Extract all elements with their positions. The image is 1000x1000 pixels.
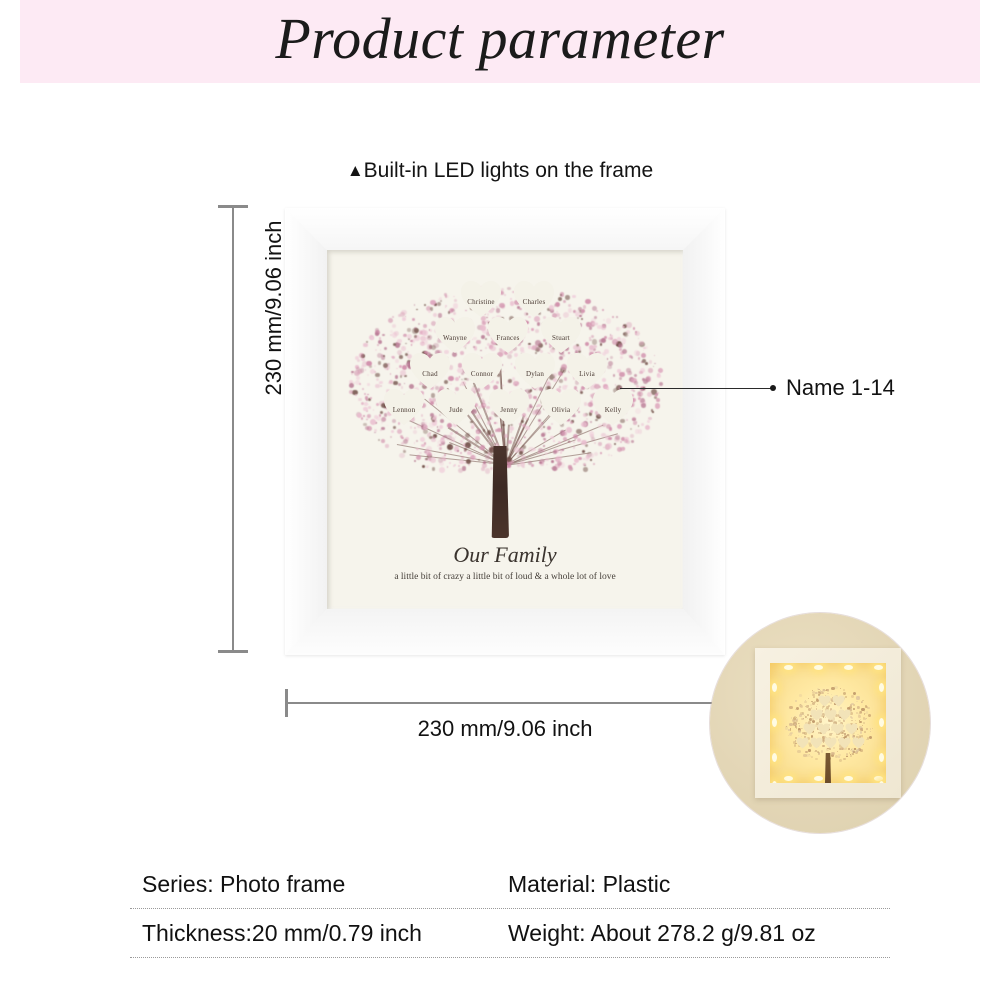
heart-name-label: Kelly — [605, 406, 622, 426]
name-heart-3: Wanyne — [434, 316, 476, 354]
led-heart-icon — [832, 695, 845, 707]
heart-name-label: Charles — [523, 298, 546, 318]
led-caption: ▲Built-in LED lights on the frame — [0, 159, 1000, 183]
spec-thickness: Thickness:20 mm/0.79 inch — [130, 920, 508, 947]
led-heart-icon — [852, 737, 865, 749]
heart-name-label: Christine — [467, 298, 494, 318]
triangle-marker-icon: ▲ — [347, 161, 364, 180]
name-heart-11: Jude — [435, 388, 477, 426]
dimension-cap-left — [285, 689, 288, 717]
led-heart-icon — [824, 709, 837, 721]
name-heart-13: Olivia — [540, 388, 582, 426]
led-glow-dot — [844, 665, 853, 670]
callout-label-names: Name 1-14 — [786, 375, 895, 401]
frame-bevel-bottom — [285, 609, 725, 655]
name-heart-5: Stuart — [540, 316, 582, 354]
led-glow-dot — [772, 718, 777, 727]
heart-name-label: Dylan — [526, 370, 544, 390]
name-heart-2: Charles — [513, 280, 555, 318]
name-heart-4: Frances — [487, 316, 529, 354]
heart-name-label: Connor — [471, 370, 493, 390]
frame-artwork-area: ChristineCharlesWanyneFrancesStuartChadC… — [327, 250, 683, 609]
heart-name-label: Stuart — [552, 334, 570, 354]
name-heart-14: Kelly — [592, 388, 634, 426]
page-title: Product parameter — [20, 0, 980, 83]
led-inset-artwork: Our Family a little bit of crazy a littl… — [770, 663, 886, 783]
heart-name-label: Wanyne — [443, 334, 467, 354]
led-glow-dot — [784, 665, 793, 670]
led-caption-text: Built-in LED lights on the frame — [364, 159, 653, 182]
dimension-label-width: 230 mm/9.06 inch — [285, 716, 725, 742]
specification-table: Series: Photo frame Material: Plastic Th… — [130, 860, 890, 958]
blossom-canopy — [345, 268, 665, 473]
heart-name-label: Chad — [422, 370, 438, 390]
led-glow-dot — [874, 665, 883, 670]
dimension-cap-bottom — [218, 650, 248, 653]
led-inset-frame: Our Family a little bit of crazy a littl… — [755, 648, 901, 798]
name-heart-7: Connor — [461, 352, 503, 390]
name-heart-1: Christine — [460, 280, 502, 318]
heart-name-label: Olivia — [552, 406, 571, 426]
spec-weight: Weight: About 278.2 g/9.81 oz — [508, 920, 890, 947]
spec-series: Series: Photo frame — [130, 871, 508, 898]
frame-bevel-top — [285, 208, 725, 250]
heart-name-label: Frances — [496, 334, 519, 354]
dimension-line-horizontal — [285, 702, 725, 704]
frame-quote-sub: a little bit of crazy a little bit of lo… — [327, 572, 683, 582]
led-glow-dot — [814, 665, 823, 670]
name-heart-10: Lennon — [383, 388, 425, 426]
led-glow-dot — [772, 683, 777, 692]
led-glow-dot — [772, 753, 777, 762]
heart-name-label: Lennon — [393, 406, 416, 426]
led-glow-dot — [879, 718, 884, 727]
frame-quote-script: Our Family — [327, 542, 683, 568]
frame-bevel-right — [683, 208, 725, 655]
led-glow-dot — [784, 776, 793, 781]
product-photo-frame: ChristineCharlesWanyneFrancesStuartChadC… — [285, 208, 725, 655]
name-heart-8: Dylan — [514, 352, 556, 390]
led-tree-canopy — [782, 681, 874, 757]
name-heart-6: Chad — [409, 352, 451, 390]
dimension-cap-top — [218, 205, 248, 208]
heart-name-label: Livia — [579, 370, 595, 390]
spec-material: Material: Plastic — [508, 871, 890, 898]
frame-bevel-left — [285, 208, 327, 655]
led-glow-dot — [879, 683, 884, 692]
header-banner: Product parameter — [20, 0, 980, 83]
table-row: Series: Photo frame Material: Plastic — [130, 860, 890, 909]
name-heart-12: Jenny — [488, 388, 530, 426]
led-lit-inset-photo: Our Family a little bit of crazy a littl… — [710, 613, 930, 833]
callout-leader-line — [620, 388, 772, 389]
name-heart-9: Livia — [566, 352, 608, 390]
heart-name-label: Jenny — [500, 406, 517, 426]
led-glow-dot — [844, 776, 853, 781]
heart-name-label: Jude — [449, 406, 463, 426]
callout-dot-icon — [770, 385, 776, 391]
led-glow-dot — [879, 753, 884, 762]
dimension-line-vertical — [232, 205, 234, 653]
led-tree-trunk — [825, 753, 831, 783]
table-row: Thickness:20 mm/0.79 inch Weight: About … — [130, 909, 890, 958]
dimension-label-height: 230 mm/9.06 inch — [261, 173, 287, 443]
led-glow-dot — [814, 776, 823, 781]
tree-trunk — [491, 446, 509, 538]
